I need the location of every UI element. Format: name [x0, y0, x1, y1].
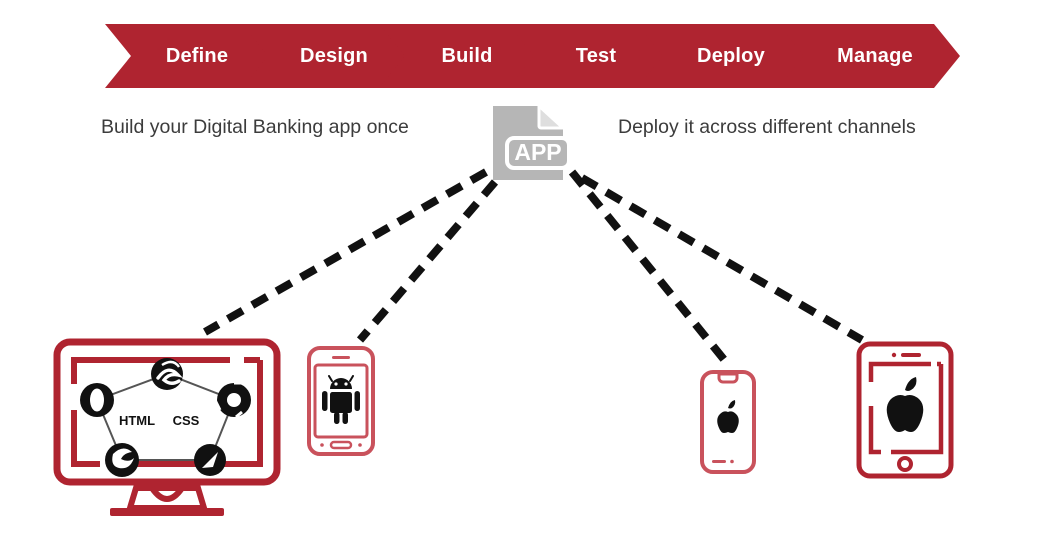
caption-build-once: Build your Digital Banking app once — [101, 114, 431, 141]
connector-to-android — [360, 182, 495, 340]
ipad-device[interactable] — [855, 340, 955, 480]
screen-label-css: CSS — [173, 413, 200, 428]
connector-to-ipad — [582, 178, 862, 340]
android-phone-device[interactable] — [305, 345, 377, 457]
connector-to-iphone — [572, 172, 726, 362]
edge-icon — [151, 358, 183, 390]
diagram-canvas: Define Design Build Test Deploy Manage B… — [0, 0, 1056, 536]
chevron-step-label: Deploy — [685, 45, 765, 68]
monitor-base — [110, 508, 224, 516]
app-document-icon: APP — [489, 104, 571, 184]
firefox-icon — [105, 443, 139, 477]
app-badge-label: APP — [514, 139, 561, 165]
monitor-stand — [110, 488, 224, 516]
chevron-step-manage[interactable]: Manage — [778, 24, 960, 88]
phone-home-button — [331, 442, 351, 448]
phone-earpiece — [332, 356, 350, 359]
ipad-speaker — [901, 353, 921, 357]
iphone-indicator-dot — [730, 460, 734, 464]
chevron-step-label: Manage — [825, 45, 913, 68]
desktop-browser-device[interactable]: HTML CSS — [52, 338, 282, 528]
caption-deploy-channels: Deploy it across different channels — [618, 114, 988, 141]
connector-to-desktop — [205, 172, 486, 332]
chevron-step-label: Design — [288, 45, 368, 68]
opera-icon — [80, 383, 114, 417]
ipad-home-button — [899, 458, 911, 470]
phone-menu-key — [358, 443, 362, 447]
phone-back-key — [320, 443, 324, 447]
android-robot-icon — [322, 376, 360, 424]
iphone-indicator-bar — [712, 460, 726, 463]
apple-logo-icon — [887, 377, 924, 432]
chevron-step-label: Define — [154, 45, 228, 68]
iphone-notch — [719, 374, 737, 382]
chrome-icon — [212, 383, 251, 417]
screen-label-html: HTML — [119, 413, 155, 428]
chevron-step-label: Build — [430, 45, 493, 68]
delivery-lifecycle-chevron-banner: Define Design Build Test Deploy Manage — [105, 24, 960, 88]
chevron-step-label: Test — [564, 45, 616, 68]
iphone-device[interactable] — [698, 368, 758, 476]
ipad-camera — [892, 353, 896, 357]
safari-icon — [194, 444, 226, 476]
apple-logo-icon — [717, 400, 739, 433]
